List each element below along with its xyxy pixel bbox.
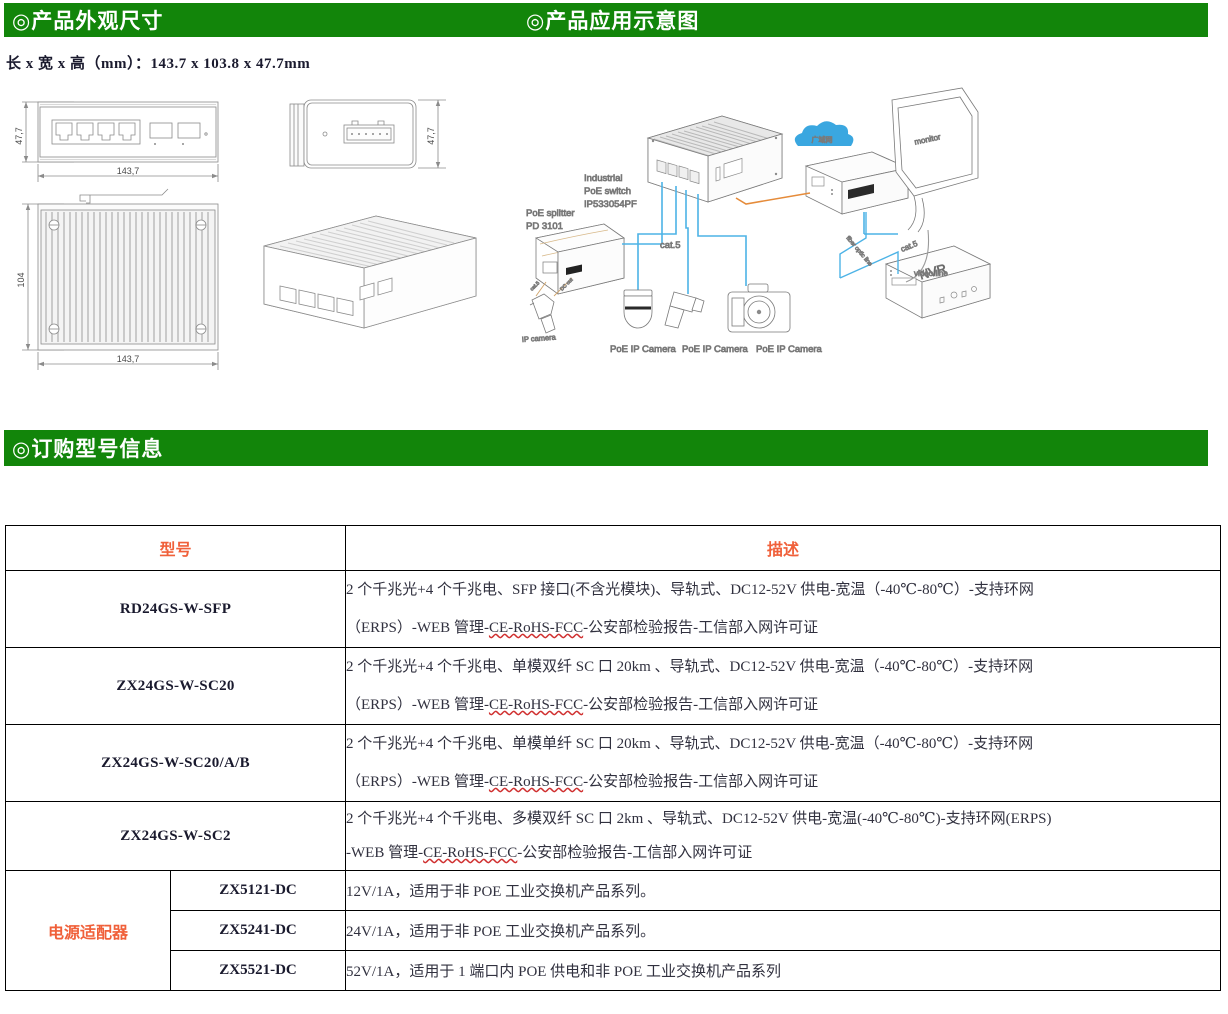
description-line-1: 2 个千兆光+4 个千兆电、单模双纤 SC 口 20km 、导轨式、DC12-5… <box>346 648 1220 686</box>
table-header-row: 型号 描述 <box>6 526 1221 571</box>
description-line-2-prefix: -WEB 管理- <box>346 845 423 861</box>
adapter-description: 12V/1A，适用于非 POE 工业交换机产品系列。 <box>346 871 1221 911</box>
description-line-2: （ERPS）-WEB 管理-CE-RoHS-FCC-公安部检验报告-工信部入网许… <box>346 763 1220 801</box>
section-header-ordering: ◎订购型号信息 <box>4 430 1208 466</box>
switch-label-line2: PoE switch <box>584 186 631 197</box>
application-diagram: Industrial PoE switch IP533054PF 广域网 <box>510 86 1010 386</box>
description-line-2-suffix: -公安部检验报告-工信部入网许可证 <box>583 774 818 790</box>
side-view-height-label: 47,7 <box>426 127 436 145</box>
ip-camera-label: IP camera <box>522 333 557 344</box>
adapter-model: ZX5241-DC <box>171 911 346 951</box>
splitter-label-line1: PoE splitter <box>526 208 575 219</box>
section-header-ordering-label: ◎订购型号信息 <box>4 433 163 463</box>
model-name: RD24GS-W-SFP <box>6 571 346 648</box>
column-header-model: 型号 <box>6 526 346 571</box>
description-line-2-prefix: （ERPS）-WEB 管理- <box>346 620 489 636</box>
table-row: ZX24GS-W-SC20 2 个千兆光+4 个千兆电、单模双纤 SC 口 20… <box>6 648 1221 725</box>
model-description: 2 个千兆光+4 个千兆电、单模单纤 SC 口 20km 、导轨式、DC12-5… <box>346 725 1221 802</box>
section-header-application-label: ◎产品应用示意图 <box>526 3 699 37</box>
description-line-2-certs: CE-RoHS-FCC <box>489 697 583 713</box>
ordering-information-table: 型号 描述 RD24GS-W-SFP 2 个千兆光+4 个千兆电、SFP 接口(… <box>5 525 1221 991</box>
product-datasheet-page: ◎产品外观尺寸 ◎产品应用示意图 长 x 宽 x 高（mm）：143.7 x 1… <box>0 0 1228 1014</box>
table-row-adapter: ZX5521-DC 52V/1A，适用于 1 端口内 POE 供电和非 POE … <box>6 951 1221 991</box>
table-row-adapter: ZX5241-DC 24V/1A，适用于非 POE 工业交换机产品系列。 <box>6 911 1221 951</box>
video-line-label: video line <box>914 269 948 278</box>
poe-camera-label-2: PoE IP Camera <box>682 344 749 355</box>
table-row-adapter: 电源适配器 ZX5121-DC 12V/1A，适用于非 POE 工业交换机产品系… <box>6 871 1221 911</box>
description-line-2-certs: CE-RoHS-FCC <box>423 845 517 861</box>
technical-drawings: 47,7 143,7 47,7 104 143,7 <box>0 86 500 386</box>
description-line-2-suffix: -公安部检验报告-工信部入网许可证 <box>583 620 818 636</box>
model-name: ZX24GS-W-SC20 <box>6 648 346 725</box>
model-description: 2 个千兆光+4 个千兆电、SFP 接口(不含光模块)、导轨式、DC12-52V… <box>346 571 1221 648</box>
description-line-2-certs: CE-RoHS-FCC <box>489 774 583 790</box>
front-view-width-label: 143,7 <box>117 166 140 176</box>
description-line-2: （ERPS）-WEB 管理-CE-RoHS-FCC-公安部检验报告-工信部入网许… <box>346 686 1220 724</box>
description-line-1: 2 个千兆光+4 个千兆电、SFP 接口(不含光模块)、导轨式、DC12-52V… <box>346 571 1220 609</box>
table-row: ZX24GS-W-SC2 2 个千兆光+4 个千兆电、多模双纤 SC 口 2km… <box>6 802 1221 871</box>
front-view-height-label: 47,7 <box>14 127 24 145</box>
cable-label-mid: cat.5 <box>660 240 681 251</box>
cable-label-right: cat.5 <box>899 239 919 254</box>
table-row: RD24GS-W-SFP 2 个千兆光+4 个千兆电、SFP 接口(不含光模块)… <box>6 571 1221 648</box>
adapter-description: 24V/1A，适用于非 POE 工业交换机产品系列。 <box>346 911 1221 951</box>
poe-camera-label-1: PoE IP Camera <box>610 344 677 355</box>
top-view-depth-label: 104 <box>16 272 26 287</box>
description-line-2-prefix: （ERPS）-WEB 管理- <box>346 774 489 790</box>
column-header-description: 描述 <box>346 526 1221 571</box>
model-name: ZX24GS-W-SC2 <box>6 802 346 871</box>
description-line-1: 2 个千兆光+4 个千兆电、多模双纤 SC 口 2km 、导轨式、DC12-52… <box>346 802 1220 836</box>
adapter-group-label: 电源适配器 <box>6 871 171 991</box>
switch-label-line3: IP533054PF <box>584 199 637 210</box>
description-line-2-suffix: -公安部检验报告-工信部入网许可证 <box>517 845 752 861</box>
dimension-note: 长 x 宽 x 高（mm）：143.7 x 103.8 x 47.7mm <box>6 52 310 73</box>
svg-text:fiber optic line: fiber optic line <box>844 235 873 268</box>
adapter-model: ZX5121-DC <box>171 871 346 911</box>
top-view-width-label: 143,7 <box>117 354 140 364</box>
model-name: ZX24GS-W-SC20/A/B <box>6 725 346 802</box>
model-description: 2 个千兆光+4 个千兆电、单模双纤 SC 口 20km 、导轨式、DC12-5… <box>346 648 1221 725</box>
adapter-description: 52V/1A，适用于 1 端口内 POE 供电和非 POE 工业交换机产品系列 <box>346 951 1221 991</box>
description-line-2: -WEB 管理-CE-RoHS-FCC-公安部检验报告-工信部入网许可证 <box>346 836 1220 870</box>
description-line-2-certs: CE-RoHS-FCC <box>489 620 583 636</box>
switch-label-line1: Industrial <box>584 173 623 184</box>
poe-camera-label-3: PoE IP Camera <box>756 344 823 355</box>
description-line-1: 2 个千兆光+4 个千兆电、单模单纤 SC 口 20km 、导轨式、DC12-5… <box>346 725 1220 763</box>
splitter-label-line2: PD 3101 <box>526 221 563 232</box>
cloud-label: 广域网 <box>812 135 833 144</box>
model-description: 2 个千兆光+4 个千兆电、多模双纤 SC 口 2km 、导轨式、DC12-52… <box>346 802 1221 871</box>
description-line-2-suffix: -公安部检验报告-工信部入网许可证 <box>583 697 818 713</box>
description-line-2: （ERPS）-WEB 管理-CE-RoHS-FCC-公安部检验报告-工信部入网许… <box>346 609 1220 647</box>
section-header-appearance-label: ◎产品外观尺寸 <box>4 5 163 35</box>
description-line-2-prefix: （ERPS）-WEB 管理- <box>346 697 489 713</box>
adapter-model: ZX5521-DC <box>171 951 346 991</box>
table-row: ZX24GS-W-SC20/A/B 2 个千兆光+4 个千兆电、单模单纤 SC … <box>6 725 1221 802</box>
